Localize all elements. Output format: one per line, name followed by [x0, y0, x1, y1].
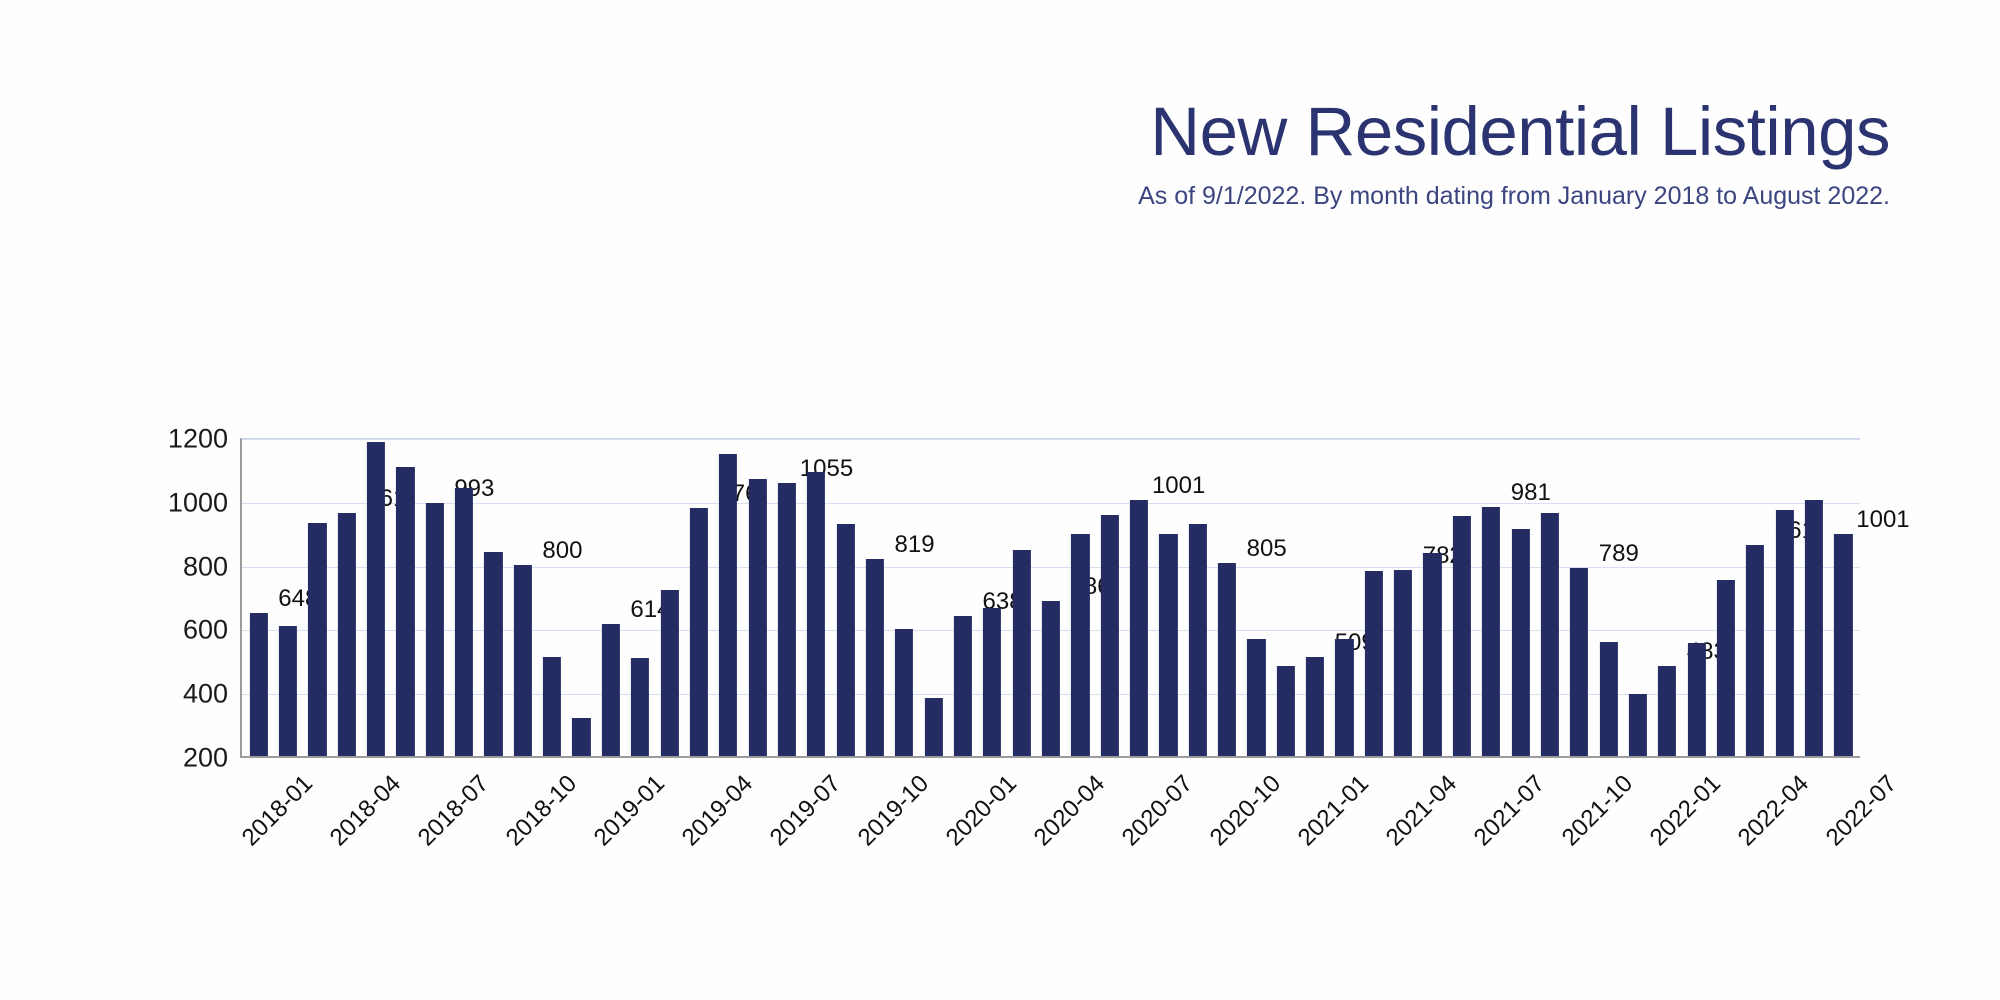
bar-slot: [596, 439, 625, 756]
bar[interactable]: [866, 559, 884, 756]
bar-slot: [1183, 439, 1212, 756]
bar-slot: [567, 439, 596, 756]
y-axis-tick-label: 600: [183, 615, 242, 646]
page-title: New Residential Listings: [0, 96, 1890, 168]
bar[interactable]: [660, 590, 678, 756]
bar-series: 6489619938006149761055819638686100180550…: [244, 439, 1860, 756]
bar-slot: [1271, 439, 1300, 756]
x-axis-tick-label: 2019-10: [853, 770, 935, 852]
bar[interactable]: [1541, 513, 1559, 756]
bar-slot: [1623, 439, 1652, 756]
bar-slot: [625, 439, 654, 756]
y-axis-tick-label: 200: [183, 743, 242, 774]
bar[interactable]: [1159, 534, 1177, 756]
bar-slot: [1447, 439, 1476, 756]
bar-slot: [1242, 439, 1271, 756]
bar[interactable]: [748, 479, 766, 756]
bar[interactable]: [1717, 580, 1735, 756]
bar[interactable]: [543, 657, 561, 756]
bar-slot: [919, 439, 948, 756]
x-axis-line: [242, 756, 1860, 758]
bar[interactable]: [602, 624, 620, 756]
bar[interactable]: [1042, 601, 1060, 756]
x-axis-tick-label: 2020-01: [941, 770, 1023, 852]
bar[interactable]: [778, 483, 796, 756]
bar-slot: [391, 439, 420, 756]
bar-slot: [1418, 439, 1447, 756]
bar[interactable]: [719, 454, 737, 756]
bar[interactable]: [1071, 534, 1089, 756]
bar-slot: [449, 439, 478, 756]
bar-slot: [772, 439, 801, 756]
bar-slot: [802, 439, 831, 756]
bar[interactable]: [1482, 507, 1500, 756]
x-axis-tick-label: 2021-07: [1469, 770, 1551, 852]
x-axis-tick-label: 2021-10: [1557, 770, 1639, 852]
x-axis-tick-label: 2018-07: [412, 770, 494, 852]
bar[interactable]: [1335, 639, 1353, 756]
bar-slot: [655, 439, 684, 756]
plot-area: 20040060080010001200 6489619938006149761…: [240, 438, 1860, 758]
bar-slot: [1007, 439, 1036, 756]
x-axis-tick-label: 2020-10: [1205, 770, 1287, 852]
x-axis-tick-label: 2018-10: [501, 770, 583, 852]
bar[interactable]: [983, 608, 1001, 756]
bar-slot: [537, 439, 566, 756]
bar-slot: [1477, 439, 1506, 756]
y-axis-tick-label: 1200: [168, 424, 242, 455]
bar[interactable]: [308, 523, 326, 756]
bar[interactable]: [279, 626, 297, 756]
bar-slot: [1829, 439, 1858, 756]
bar[interactable]: [572, 718, 590, 756]
bar[interactable]: [1599, 642, 1617, 756]
bar-slot: [1330, 439, 1359, 756]
bar[interactable]: [895, 629, 913, 756]
bar-slot: [244, 439, 273, 756]
y-axis-tick-label: 400: [183, 679, 242, 710]
bar-slot: [1799, 439, 1828, 756]
bar[interactable]: [1394, 570, 1412, 756]
bar[interactable]: [1453, 516, 1471, 756]
bar-slot: [361, 439, 390, 756]
bar-slot: [1741, 439, 1770, 756]
bar[interactable]: [1511, 529, 1529, 756]
bar-slot: [1359, 439, 1388, 756]
bar-slot: [978, 439, 1007, 756]
chart-header: New Residential Listings As of 9/1/2022.…: [0, 96, 1890, 211]
bar[interactable]: [1189, 524, 1207, 756]
bar-slot: [332, 439, 361, 756]
bar-slot: [1653, 439, 1682, 756]
bar[interactable]: [1218, 563, 1236, 756]
x-axis-tick-label: 2022-04: [1733, 770, 1815, 852]
bar-slot: [1388, 439, 1417, 756]
bar-slot: [831, 439, 860, 756]
chart-page: New Residential Listings As of 9/1/2022.…: [0, 0, 2000, 1000]
bar[interactable]: [954, 616, 972, 756]
bar[interactable]: [396, 467, 414, 756]
x-axis-tick-label: 2021-04: [1381, 770, 1463, 852]
bar-slot: [1770, 439, 1799, 756]
x-axis-tick-label: 2018-01: [236, 770, 318, 852]
bar-slot: [1565, 439, 1594, 756]
bar[interactable]: [1629, 694, 1647, 756]
bar-slot: [860, 439, 889, 756]
bar-slot: [303, 439, 332, 756]
chart-subtitle: As of 9/1/2022. By month dating from Jan…: [0, 182, 1890, 211]
bar-slot: [714, 439, 743, 756]
bar-slot: [1095, 439, 1124, 756]
x-axis-tick-label: 2020-07: [1117, 770, 1199, 852]
bar[interactable]: [1013, 550, 1031, 756]
bar-slot: [743, 439, 772, 756]
bar[interactable]: [925, 698, 943, 756]
bar[interactable]: [690, 508, 708, 756]
y-axis-tick-label: 800: [183, 551, 242, 582]
bar-slot: [1506, 439, 1535, 756]
bar-slot: [420, 439, 449, 756]
x-axis-tick-label: 2022-01: [1645, 770, 1727, 852]
bar-slot: [1154, 439, 1183, 756]
x-axis-tick-label: 2018-04: [324, 770, 406, 852]
bar[interactable]: [1130, 500, 1148, 756]
bar-slot: [1036, 439, 1065, 756]
bar[interactable]: [1658, 666, 1676, 756]
bar[interactable]: [1776, 510, 1794, 756]
bar-slot: [1300, 439, 1329, 756]
bar[interactable]: [1101, 515, 1119, 756]
bar[interactable]: [1306, 657, 1324, 756]
bar[interactable]: [1570, 568, 1588, 756]
bar-slot: [890, 439, 919, 756]
bar[interactable]: [250, 613, 268, 756]
bar[interactable]: [367, 442, 385, 756]
bar[interactable]: [1746, 545, 1764, 756]
bar-slot: [1066, 439, 1095, 756]
bar[interactable]: [426, 503, 444, 756]
bar-slot: [1594, 439, 1623, 756]
x-axis-tick-label: 2021-01: [1293, 770, 1375, 852]
bar[interactable]: [514, 565, 532, 756]
bar-value-label: 1001: [1856, 506, 1909, 534]
bar[interactable]: [338, 513, 356, 756]
bar[interactable]: [484, 552, 502, 756]
bar[interactable]: [455, 488, 473, 756]
bar-slot: [273, 439, 302, 756]
bar[interactable]: [631, 658, 649, 756]
x-axis-tick-label: 2019-04: [677, 770, 759, 852]
bar[interactable]: [1277, 666, 1295, 756]
bar[interactable]: [1365, 571, 1383, 756]
bar-slot: [948, 439, 977, 756]
bar-slot: [1212, 439, 1241, 756]
bar[interactable]: [1834, 534, 1852, 756]
bar-slot: [1535, 439, 1564, 756]
x-axis-tick-label: 2019-07: [765, 770, 847, 852]
y-axis-tick-label: 1000: [168, 487, 242, 518]
bar-slot: [1682, 439, 1711, 756]
bar-slot: [1711, 439, 1740, 756]
bar[interactable]: [1247, 639, 1265, 756]
x-axis-tick-label: 2019-01: [589, 770, 671, 852]
x-axis-tick-label: 2020-04: [1029, 770, 1111, 852]
bar[interactable]: [1805, 500, 1823, 756]
bar-slot: [479, 439, 508, 756]
bar[interactable]: [836, 524, 854, 756]
bar[interactable]: [1423, 553, 1441, 756]
bar-slot: [684, 439, 713, 756]
bar[interactable]: [807, 472, 825, 756]
x-axis-tick-label: 2022-07: [1821, 770, 1903, 852]
bar-slot: [1124, 439, 1153, 756]
bar[interactable]: [1688, 643, 1706, 756]
bar-slot: [508, 439, 537, 756]
